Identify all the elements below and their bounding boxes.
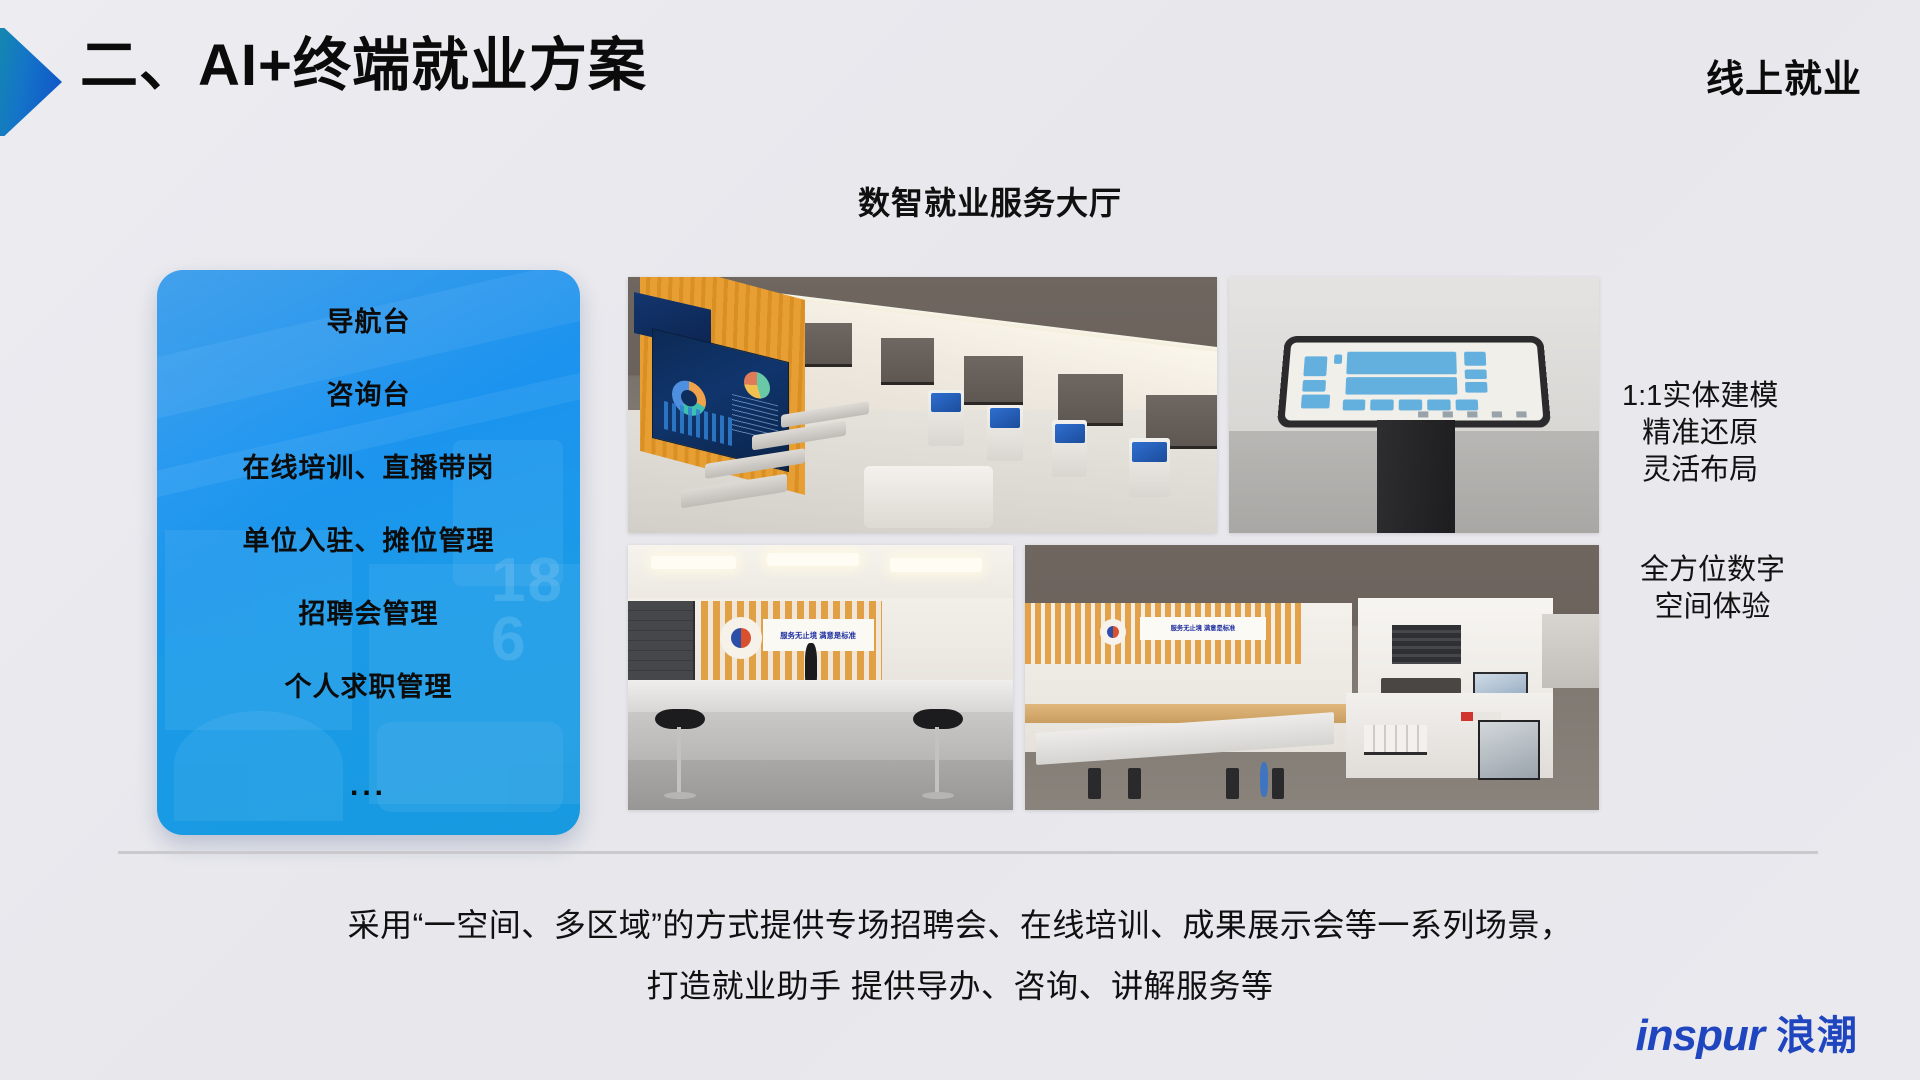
caption-digital-line-1: 全方位数字: [1640, 552, 1785, 589]
feature-list-ellipsis: ...: [157, 777, 580, 795]
kiosk-touchscreen: [1277, 337, 1552, 428]
caption-modeling-line-1: 1:1实体建模: [1622, 378, 1778, 415]
brand-logo-latin: inspur: [1636, 1014, 1764, 1058]
divider: [118, 851, 1818, 854]
counter-stool: [913, 709, 963, 799]
feature-item-navigation-desk[interactable]: 导航台: [327, 300, 411, 339]
feature-item-consultation-desk[interactable]: 咨询台: [327, 373, 411, 412]
counter-staff-figure: [805, 643, 817, 685]
caption-digital-line-2: 空间体验: [1640, 589, 1785, 626]
feature-item-personal-job-seeking[interactable]: 个人求职管理: [285, 665, 453, 704]
counter-stool: [655, 709, 705, 799]
aerial-entrance-door: [1478, 720, 1539, 780]
shot-touch-kiosk[interactable]: [1229, 277, 1599, 533]
caption-digital-space: 全方位数字 空间体验: [1640, 552, 1785, 626]
feature-item-online-training[interactable]: 在线培训、直播带岗: [243, 446, 495, 485]
feature-list: 导航台 咨询台 在线培训、直播带岗 单位入驻、摊位管理 招聘会管理 个人求职管理: [157, 270, 580, 835]
brand-logo-chinese: 浪潮: [1776, 1016, 1858, 1056]
counter-slogan-banner: 服务无止境 满意是标准: [763, 619, 875, 651]
summary-block: 采用“一空间、多区域”的方式提供专场招聘会、在线培训、成果展示会等一系列场景， …: [0, 895, 1920, 1017]
counter-wall-logo-icon: [720, 617, 762, 659]
section-heading: 数智就业服务大厅: [858, 178, 1122, 224]
feature-panel: 186 导航台 咨询台 在线培训、直播带岗 单位入驻、摊位管理 招聘会管理 个人…: [157, 270, 580, 835]
feature-item-employer-booth[interactable]: 单位入驻、摊位管理: [243, 519, 495, 558]
caption-modeling: 1:1实体建模 精准还原 灵活布局: [1622, 378, 1778, 489]
gallery: 服务无止境 满意是标准 服务无止境 满意是标准: [628, 277, 1599, 810]
kiosk-pedestal: [1377, 420, 1455, 533]
kiosk-floorplan-map: [1284, 343, 1543, 421]
aerial-wall-logo-icon: [1100, 619, 1126, 645]
page-title: 二、AI+终端就业方案: [80, 34, 647, 98]
shot-aerial-cutaway[interactable]: 服务无止境 满意是标准: [1025, 545, 1599, 810]
aerial-slogan-banner: 服务无止境 满意是标准: [1140, 617, 1266, 641]
aerial-visitor-figure: [1260, 762, 1268, 796]
caption-modeling-line-3: 灵活布局: [1622, 452, 1778, 489]
feature-item-job-fair-management[interactable]: 招聘会管理: [299, 592, 439, 631]
caption-modeling-line-2: 精准还原: [1622, 415, 1778, 452]
aerial-service-windows: [1364, 725, 1427, 755]
summary-line-1: 采用“一空间、多区域”的方式提供专场招聘会、在线培训、成果展示会等一系列场景，: [0, 895, 1920, 956]
counter-slogan-text: 服务无止境 满意是标准: [781, 630, 857, 640]
counter-lockers: [628, 601, 695, 681]
aerial-slogan-text: 服务无止境 满意是标准: [1171, 624, 1236, 633]
aerial-shelf: [1392, 625, 1461, 665]
header-accent-arrow-icon: [0, 28, 62, 136]
shot-service-counter[interactable]: 服务无止境 满意是标准: [628, 545, 1013, 810]
summary-line-2: 打造就业助手 提供导办、咨询、讲解服务等: [0, 956, 1920, 1017]
header-category-tag: 线上就业: [1706, 48, 1862, 103]
brand-logo: inspur 浪潮: [1636, 1014, 1858, 1058]
slide-root: 二、AI+终端就业方案 线上就业 数智就业服务大厅 186 导航台 咨询台 在线…: [0, 0, 1920, 1080]
shot-service-hall-interior[interactable]: [628, 277, 1217, 533]
